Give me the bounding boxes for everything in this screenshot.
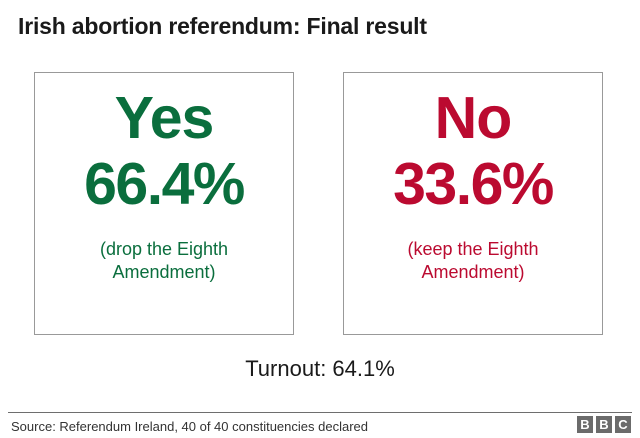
page-title: Irish abortion referendum: Final result bbox=[18, 13, 427, 40]
result-verdict-no: No bbox=[435, 89, 512, 148]
result-caption-no: (keep the Eighth Amendment) bbox=[363, 238, 583, 284]
result-percent-no: 33.6% bbox=[393, 155, 553, 214]
result-caption-yes: (drop the Eighth Amendment) bbox=[54, 238, 274, 284]
source-note: Source: Referendum Ireland, 40 of 40 con… bbox=[11, 419, 368, 434]
bbc-logo: B B C bbox=[577, 416, 631, 433]
bbc-logo-letter-2: B bbox=[596, 416, 612, 433]
referendum-result-graphic: Irish abortion referendum: Final result … bbox=[0, 0, 640, 438]
footer-divider bbox=[8, 412, 632, 413]
result-panel-no: No 33.6% (keep the Eighth Amendment) bbox=[343, 72, 603, 335]
result-verdict-yes: Yes bbox=[115, 89, 214, 148]
results-panel-group: Yes 66.4% (drop the Eighth Amendment) No… bbox=[0, 72, 640, 335]
bbc-logo-letter-1: B bbox=[577, 416, 593, 433]
result-percent-yes: 66.4% bbox=[84, 155, 244, 214]
bbc-logo-letter-3: C bbox=[615, 416, 631, 433]
turnout-label: Turnout: 64.1% bbox=[0, 356, 640, 382]
result-panel-yes-content: Yes 66.4% (drop the Eighth Amendment) bbox=[35, 73, 293, 334]
result-panel-yes: Yes 66.4% (drop the Eighth Amendment) bbox=[34, 72, 294, 335]
result-panel-no-content: No 33.6% (keep the Eighth Amendment) bbox=[344, 73, 602, 334]
